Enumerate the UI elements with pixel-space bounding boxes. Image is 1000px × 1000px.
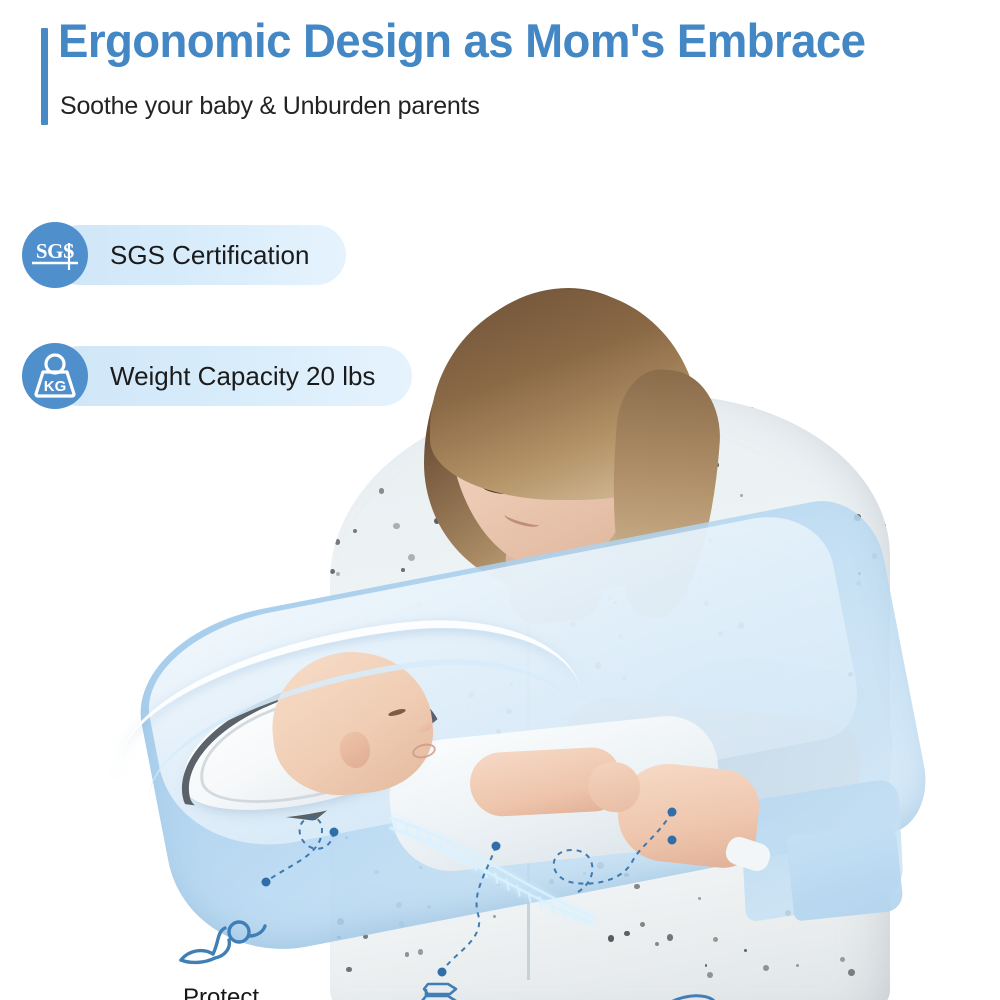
shirt-dot — [740, 494, 743, 497]
page-subtitle: Soothe your baby & Unburden parents — [60, 92, 960, 121]
shirt-dot — [330, 469, 332, 471]
shirt-dot — [357, 412, 359, 414]
badge-label: SGS Certification — [110, 240, 309, 271]
shirt-dot — [713, 937, 718, 942]
shirt-dot — [401, 568, 405, 572]
shirt-dot — [608, 935, 615, 942]
sgs-certification-icon: SGS — [22, 222, 88, 288]
spine-vertebrae-icon — [348, 978, 538, 1000]
shirt-dot — [418, 949, 424, 955]
title-accent-bar — [41, 28, 48, 125]
shirt-dot — [883, 420, 887, 424]
shirt-dot — [393, 523, 399, 529]
shirt-dot — [336, 572, 340, 576]
shirt-dot — [667, 934, 673, 940]
feature-scientific-depth: Scientific depth — [588, 990, 788, 1000]
shirt-dot — [405, 952, 409, 956]
shirt-dot — [707, 972, 713, 978]
shirt-dot — [840, 957, 845, 962]
feature-label: Protect the Neck — [126, 985, 316, 1000]
shirt-dot — [389, 397, 392, 400]
shirt-dot — [744, 949, 748, 953]
shirt-dot — [796, 964, 799, 967]
shirt-dot — [848, 969, 855, 976]
scientific-depth-bowl-icon — [588, 990, 788, 1000]
badge-label: Weight Capacity 20 lbs — [110, 361, 375, 392]
shirt-dot — [750, 401, 757, 408]
shirt-dot — [624, 931, 629, 936]
shirt-dot — [705, 964, 707, 966]
product-marketing-image: Ergonomic Design as Mom's Embrace Soothe… — [0, 0, 1000, 1000]
shirt-dot — [353, 529, 357, 533]
shirt-dot — [763, 965, 769, 971]
shirt-dot — [634, 884, 639, 889]
shirt-dot — [379, 488, 385, 494]
shirt-dot — [335, 539, 340, 544]
weight-capacity-icon: KG — [22, 343, 88, 409]
svg-text:KG: KG — [44, 378, 67, 395]
shirt-dot — [885, 524, 887, 526]
lounger-foot-tip — [786, 824, 904, 921]
shirt-dot — [330, 569, 335, 574]
feature-protect-the-neck: Protect the Neck — [126, 916, 316, 1000]
feature-pamper-the-spine: Pamper the spine — [348, 978, 538, 1000]
shirt-dot — [826, 437, 829, 440]
shirt-dot — [698, 897, 701, 900]
reclining-baby-neck-icon — [126, 916, 316, 979]
page-title: Ergonomic Design as Mom's Embrace — [58, 16, 931, 67]
shirt-dot — [408, 554, 415, 561]
shirt-dot — [640, 922, 645, 927]
shirt-dot — [493, 915, 496, 918]
shirt-dot — [346, 967, 352, 973]
shirt-dot — [655, 942, 659, 946]
